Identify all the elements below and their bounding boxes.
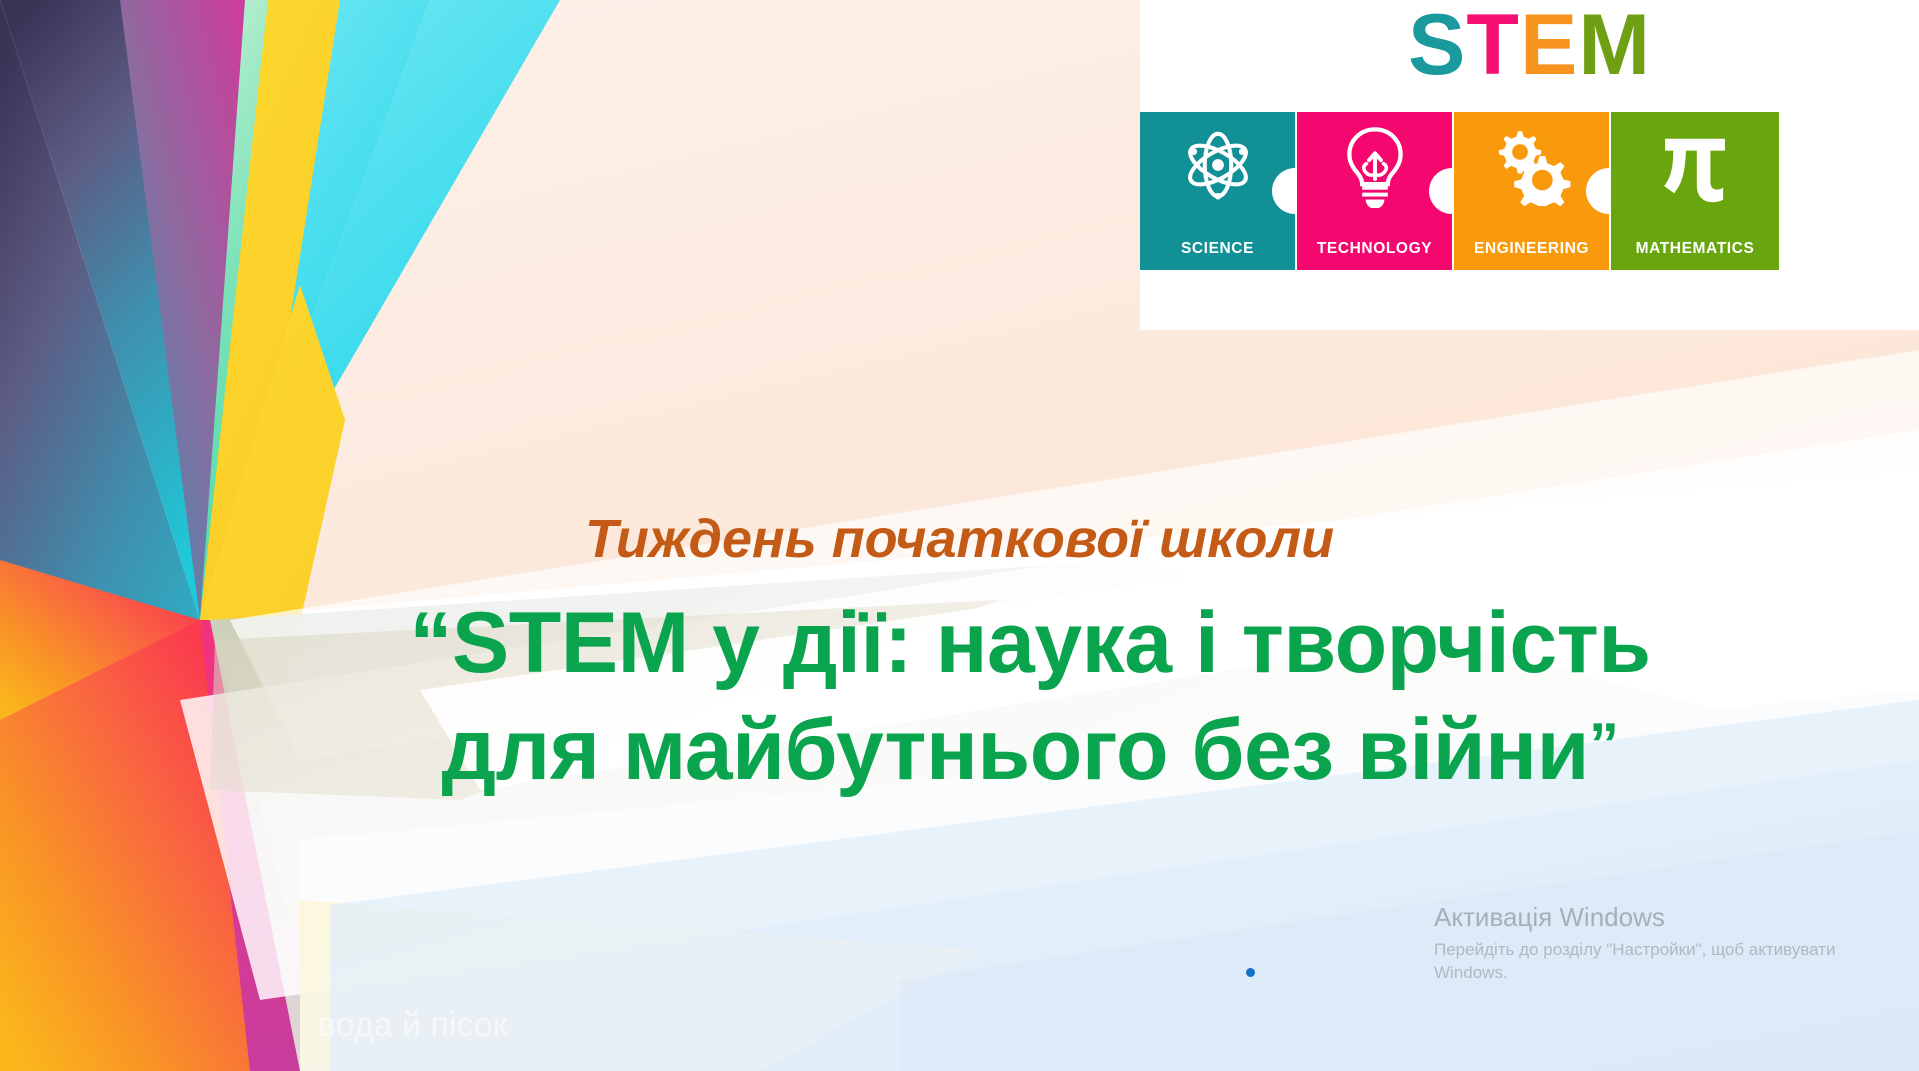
windows-activation-watermark: Активація Windows Перейдіть до розділу "… xyxy=(1434,903,1874,984)
puzzle-piece-mathematics: MATHEMATICS xyxy=(1611,112,1779,270)
activation-title: Активація Windows xyxy=(1434,903,1874,932)
stem-wordmark: STEM xyxy=(1140,2,1919,88)
wordmark-letter-m: M xyxy=(1578,2,1651,88)
gears-icon xyxy=(1454,126,1609,206)
faint-background-text: вода й пісок xyxy=(318,1006,508,1045)
activation-body: Перейдіть до розділу "Настройки", щоб ак… xyxy=(1434,939,1862,985)
wordmark-letter-t: T xyxy=(1466,2,1520,88)
atom-icon xyxy=(1140,126,1295,204)
title-close-quote: ” xyxy=(1589,711,1619,778)
puzzle-label-mathematics: MATHEMATICS xyxy=(1611,240,1779,258)
wordmark-letter-s: S xyxy=(1408,2,1466,88)
title-line-2: для майбутнього без війни xyxy=(442,702,1589,798)
puzzle-piece-science: SCIENCE xyxy=(1140,112,1295,270)
puzzle-label-science: SCIENCE xyxy=(1140,240,1295,258)
wordmark-letter-e: E xyxy=(1520,2,1578,88)
page-title: “STEM у дії: наука і творчість для майбу… xyxy=(330,590,1730,803)
bullet-dot-icon xyxy=(1246,968,1255,977)
pi-icon xyxy=(1611,126,1779,206)
title-line-1: “STEM у дії: наука і творчість xyxy=(330,590,1730,697)
puzzle-piece-engineering: ENGINEERING xyxy=(1454,112,1609,270)
stem-puzzle-row: SCIENCE TE xyxy=(1140,112,1919,274)
stem-logo: STEM xyxy=(1140,0,1919,330)
presentation-slide: STEM xyxy=(0,0,1919,1071)
puzzle-piece-technology: TECHNOLOGY xyxy=(1297,112,1452,270)
subtitle-heading: Тиждень початкової школи xyxy=(0,512,1919,566)
puzzle-label-technology: TECHNOLOGY xyxy=(1297,240,1452,258)
lightbulb-icon xyxy=(1297,126,1452,208)
puzzle-label-engineering: ENGINEERING xyxy=(1454,240,1609,258)
title-line-2-wrap: для майбутнього без війни” xyxy=(330,697,1730,804)
